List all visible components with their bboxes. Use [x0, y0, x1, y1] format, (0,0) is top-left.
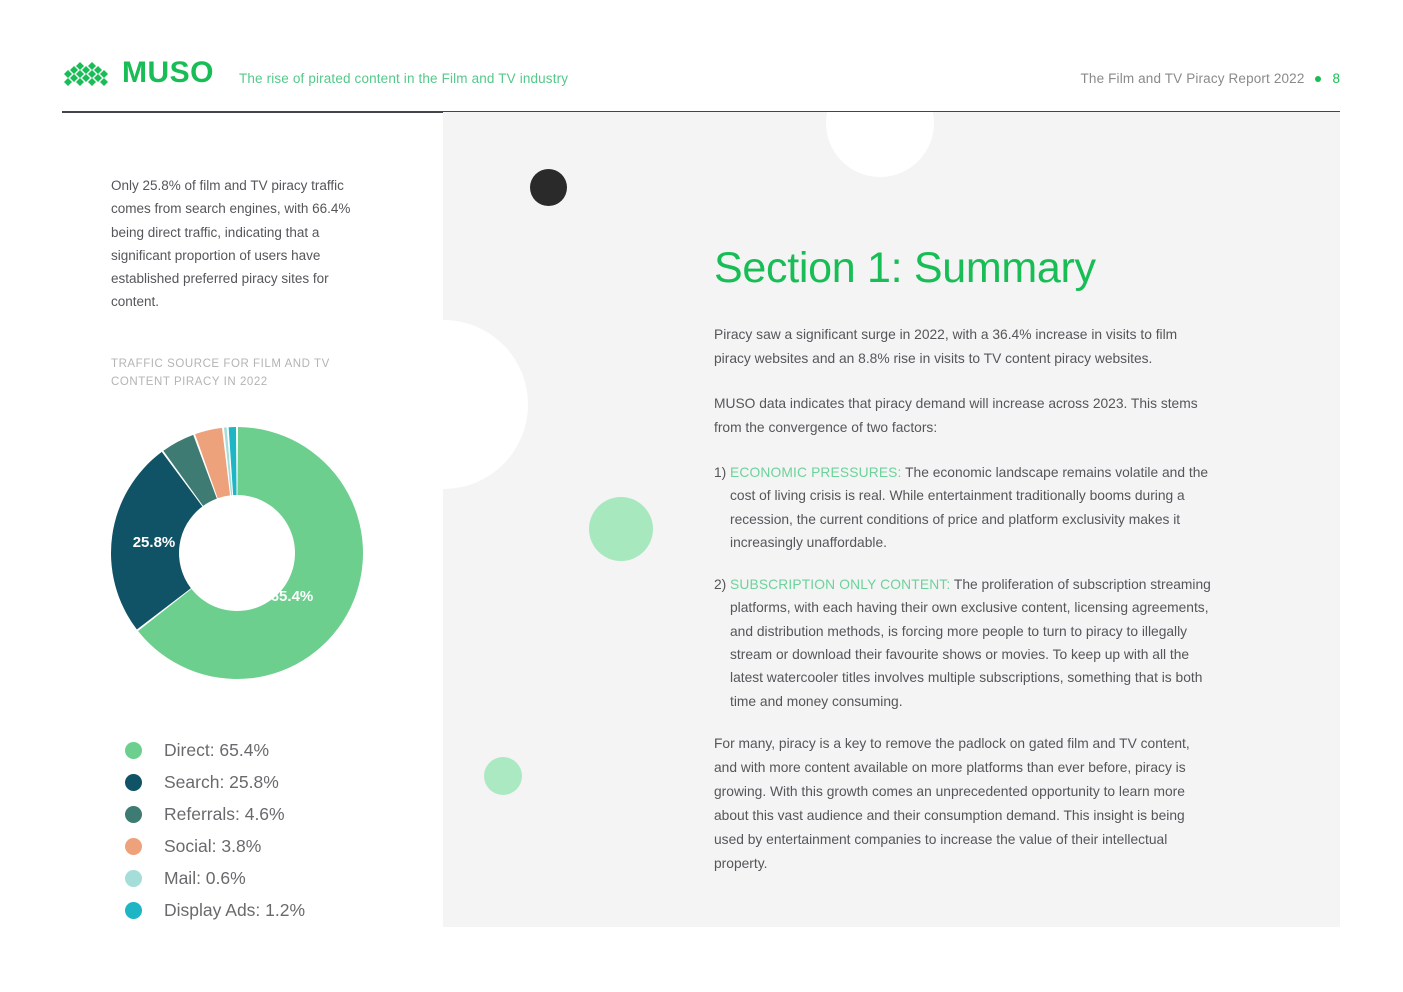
list-item-heading: ECONOMIC PRESSURES: [730, 465, 902, 480]
legend-swatch-icon [125, 838, 142, 855]
legend-swatch-icon [125, 902, 142, 919]
traffic-source-donut-chart: 65.4% 25.8% [109, 425, 365, 681]
donut-label-search: 25.8% [133, 534, 176, 551]
legend-item: Referrals: 4.6% [125, 798, 305, 830]
report-title: The Film and TV Piracy Report 2022 [1081, 71, 1305, 86]
legend-label: Referrals: 4.6% [164, 804, 285, 825]
donut-label-direct: 65.4% [271, 588, 314, 605]
green-circle-mid-decoration [589, 497, 653, 561]
header-subtitle: The rise of pirated content in the Film … [239, 71, 568, 86]
closing-paragraph: For many, piracy is a key to remove the … [714, 732, 1214, 876]
legend-item: Search: 25.8% [125, 766, 305, 798]
summary-paragraph-2: MUSO data indicates that piracy demand w… [714, 392, 1214, 440]
legend-label: Social: 3.8% [164, 836, 261, 857]
left-column: Only 25.8% of film and TV piracy traffic… [111, 174, 411, 314]
intro-paragraph: Only 25.8% of film and TV piracy traffic… [111, 174, 356, 314]
chart-caption: TRAFFIC SOURCE FOR FILM AND TV CONTENT P… [111, 355, 356, 391]
legend-swatch-icon [125, 870, 142, 887]
list-item: 2) SUBSCRIPTION ONLY CONTENT: The prolif… [714, 573, 1214, 713]
list-item-index: 2) [714, 573, 730, 713]
legend-label: Display Ads: 1.2% [164, 900, 305, 921]
muso-diamond-logo-icon [62, 60, 114, 86]
legend-label: Mail: 0.6% [164, 868, 246, 889]
page-number: 8 [1332, 71, 1340, 86]
list-item-body: ECONOMIC PRESSURES: The economic landsca… [730, 461, 1214, 554]
page-dot-icon [1315, 76, 1321, 82]
chart-legend: Direct: 65.4%Search: 25.8%Referrals: 4.6… [125, 734, 305, 926]
legend-label: Direct: 65.4% [164, 740, 269, 761]
legend-label: Search: 25.8% [164, 772, 279, 793]
list-item-text: The proliferation of subscription stream… [730, 577, 1211, 708]
header-right-group: The Film and TV Piracy Report 2022 8 [1081, 71, 1340, 86]
summary-panel: Section 1: Summary Piracy saw a signific… [443, 112, 1340, 927]
green-circle-small-decoration [484, 757, 522, 795]
section-title: Section 1: Summary [714, 247, 1214, 290]
legend-item: Social: 3.8% [125, 830, 305, 862]
legend-swatch-icon [125, 742, 142, 759]
white-circle-left-decoration [443, 320, 528, 489]
summary-content: Section 1: Summary Piracy saw a signific… [714, 247, 1214, 897]
legend-item: Display Ads: 1.2% [125, 894, 305, 926]
muso-logo[interactable]: MUSO [62, 58, 214, 88]
legend-item: Mail: 0.6% [125, 862, 305, 894]
list-item-heading: SUBSCRIPTION ONLY CONTENT: [730, 577, 950, 592]
donut-slices [111, 427, 363, 679]
list-item-body: SUBSCRIPTION ONLY CONTENT: The prolifera… [730, 573, 1214, 713]
page-header: MUSO The rise of pirated content in the … [0, 0, 1403, 112]
summary-paragraph-1: Piracy saw a significant surge in 2022, … [714, 323, 1214, 371]
legend-swatch-icon [125, 774, 142, 791]
dark-circle-decoration [530, 169, 567, 206]
legend-swatch-icon [125, 806, 142, 823]
donut-slice-display-ads [229, 427, 237, 495]
logo-wordmark: MUSO [122, 58, 214, 88]
list-item: 1) ECONOMIC PRESSURES: The economic land… [714, 461, 1214, 554]
white-circle-top-decoration [826, 112, 934, 177]
list-item-index: 1) [714, 461, 730, 554]
legend-item: Direct: 65.4% [125, 734, 305, 766]
